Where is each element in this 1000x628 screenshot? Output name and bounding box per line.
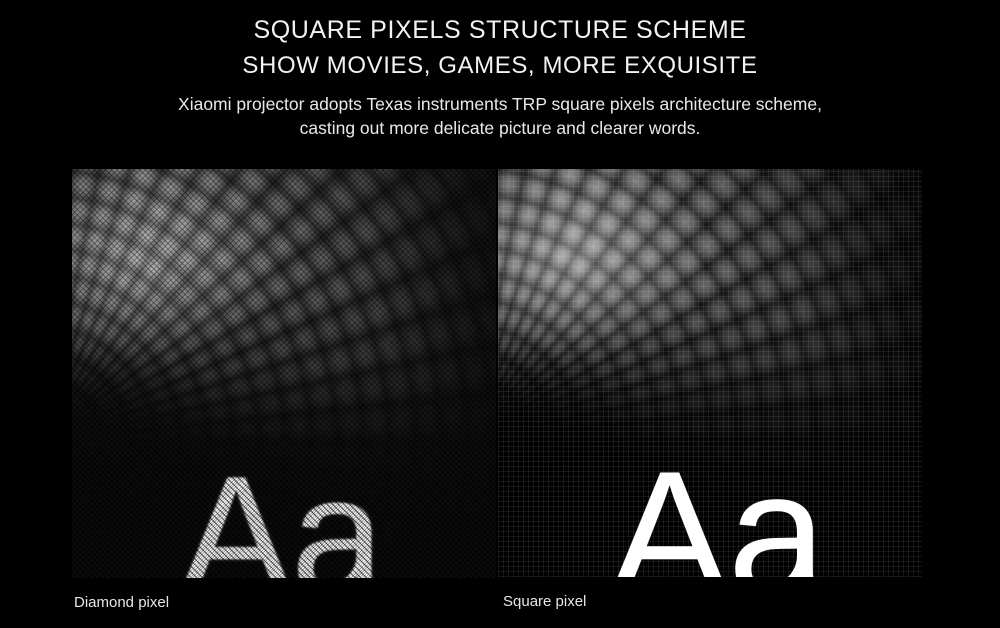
pixel-comparison-gallery: Aa Aa xyxy=(72,169,922,579)
diamond-pixel-grid-overlay xyxy=(72,169,496,578)
header-text-block: SQUARE PIXELS STRUCTURE SCHEME SHOW MOVI… xyxy=(0,0,1000,140)
description-paragraph: Xiaomi projector adopts Texas instrument… xyxy=(0,82,1000,140)
sample-glyph-square: Aa xyxy=(610,445,826,577)
description-line-1: Xiaomi projector adopts Texas instrument… xyxy=(0,92,1000,116)
diamond-pixel-panel: Aa xyxy=(72,169,496,578)
caption-diamond-pixel: Diamond pixel xyxy=(74,594,169,612)
page-subtitle: SHOW MOVIES, GAMES, MORE EXQUISITE xyxy=(0,46,1000,82)
description-line-2: casting out more delicate picture and cl… xyxy=(0,116,1000,140)
page-title: SQUARE PIXELS STRUCTURE SCHEME xyxy=(0,0,1000,46)
caption-square-pixel: Square pixel xyxy=(503,593,586,611)
square-pixel-panel: Aa xyxy=(498,169,922,577)
